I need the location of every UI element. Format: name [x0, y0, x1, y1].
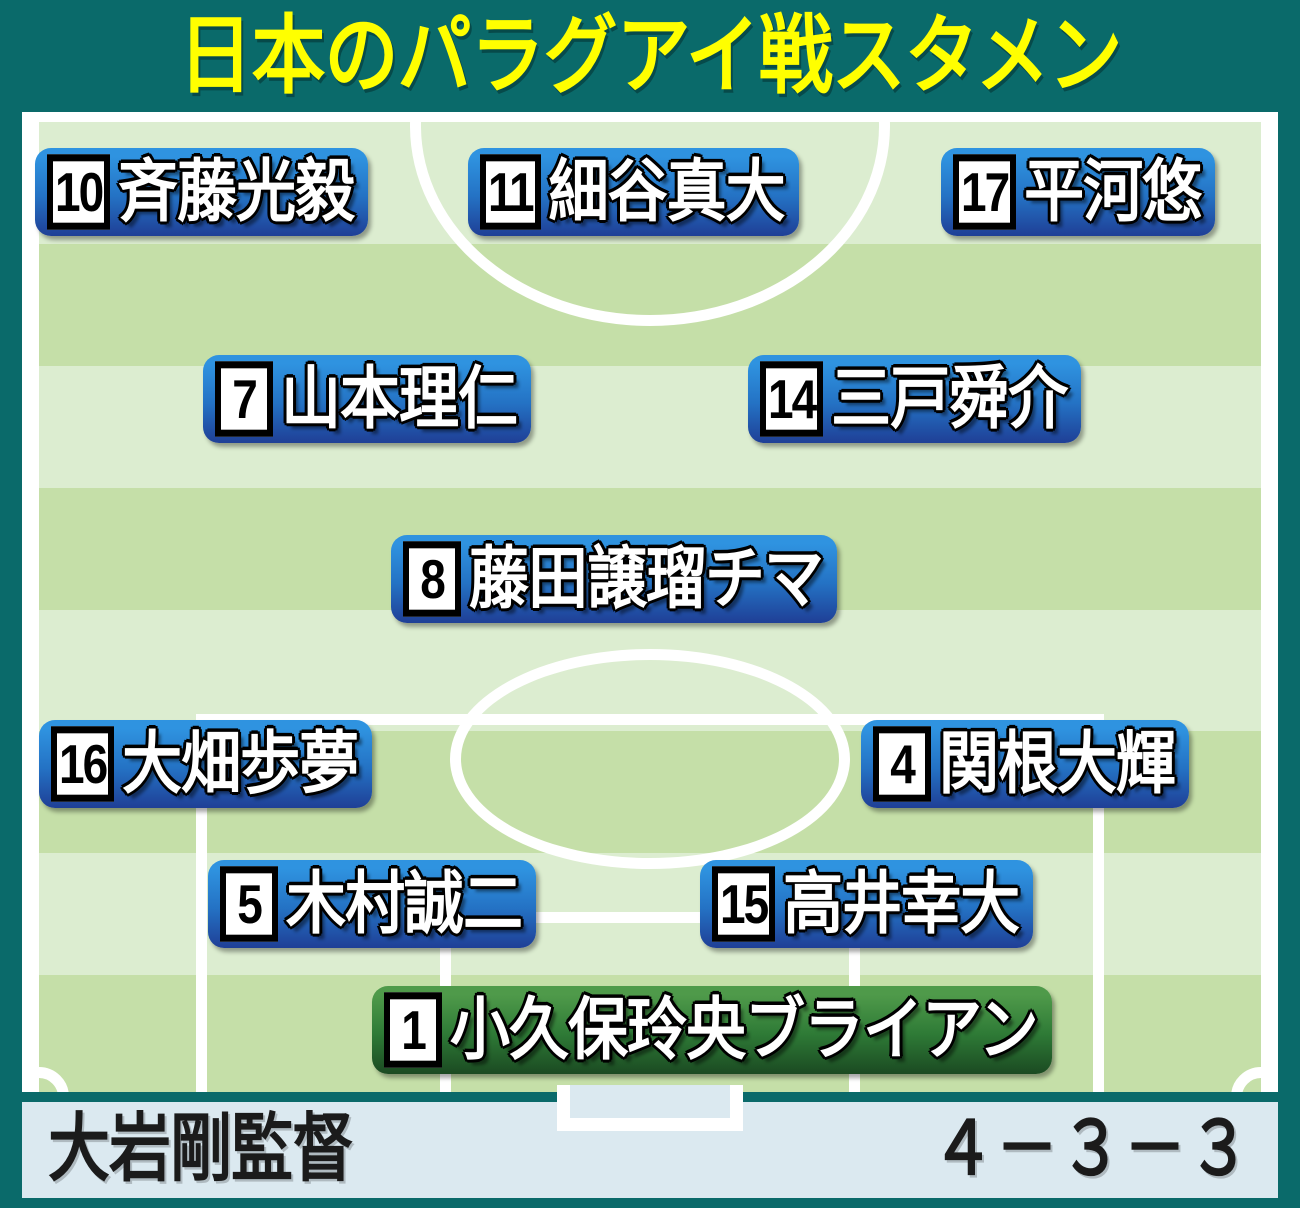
player-chip-midfield-right[interactable]: 14三戸舜介	[748, 355, 1081, 443]
player-number-badge: 11	[480, 154, 541, 230]
player-chip-forward-right[interactable]: 17平河悠	[941, 148, 1215, 236]
player-chip-forward-left[interactable]: 10斉藤光毅	[35, 148, 368, 236]
goal-mouth	[557, 1085, 743, 1131]
formation-label: ４－３－３	[932, 1113, 1252, 1187]
player-name: 木村誠二	[286, 870, 522, 938]
player-name: 関根大輝	[939, 730, 1175, 798]
player-name: 大畑歩夢	[122, 730, 358, 798]
player-name: 三戸舜介	[831, 365, 1067, 433]
coach-label: 大岩剛監督	[48, 1113, 353, 1187]
player-chip-goalkeeper[interactable]: 1小久保玲央ブライアン	[372, 986, 1052, 1074]
player-number-badge: 16	[51, 726, 114, 802]
player-chip-left-back[interactable]: 16大畑歩夢	[39, 720, 372, 808]
player-number-badge: 8	[403, 541, 461, 617]
player-chip-center-back-right[interactable]: 15高井幸大	[700, 860, 1033, 948]
player-number-badge: 14	[760, 361, 823, 437]
player-chip-midfield-left[interactable]: 7山本理仁	[203, 355, 531, 443]
player-name: 山本理仁	[281, 365, 517, 433]
player-chip-forward-center[interactable]: 11細谷真大	[468, 148, 799, 236]
player-number-badge: 10	[47, 154, 110, 230]
player-number-badge: 5	[220, 866, 278, 942]
player-number-badge: 4	[873, 726, 931, 802]
player-name: 斉藤光毅	[118, 158, 354, 226]
player-number-badge: 1	[384, 992, 442, 1068]
player-chip-center-back-left[interactable]: 5木村誠二	[208, 860, 536, 948]
player-number-badge: 17	[953, 154, 1016, 230]
lineup-graphic: 日本のパラグアイ戦スタメン 10斉藤光毅11細谷真大17平河悠7山本理仁14三戸…	[0, 0, 1300, 1208]
player-chip-right-back[interactable]: 4関根大輝	[861, 720, 1189, 808]
player-number-badge: 15	[712, 866, 775, 942]
title-bar: 日本のパラグアイ戦スタメン	[0, 0, 1300, 112]
player-name: 高井幸大	[783, 870, 1019, 938]
page-title: 日本のパラグアイ戦スタメン	[178, 13, 1121, 99]
player-name: 藤田譲瑠チマ	[469, 545, 823, 613]
player-chip-defensive-midfield[interactable]: 8藤田譲瑠チマ	[391, 535, 837, 623]
player-name: 小久保玲央ブライアン	[450, 996, 1038, 1064]
player-name: 細谷真大	[549, 158, 785, 226]
player-name: 平河悠	[1024, 158, 1201, 226]
player-number-badge: 7	[215, 361, 273, 437]
